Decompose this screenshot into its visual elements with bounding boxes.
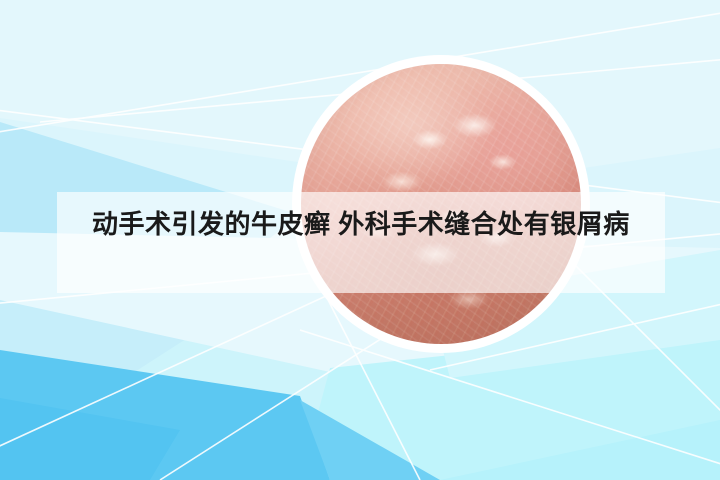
- thumbnail-canvas: 动手术引发的牛皮癣 外科手术缝合处有银屑病: [0, 0, 720, 480]
- page-title: 动手术引发的牛皮癣 外科手术缝合处有银屑病: [92, 205, 652, 243]
